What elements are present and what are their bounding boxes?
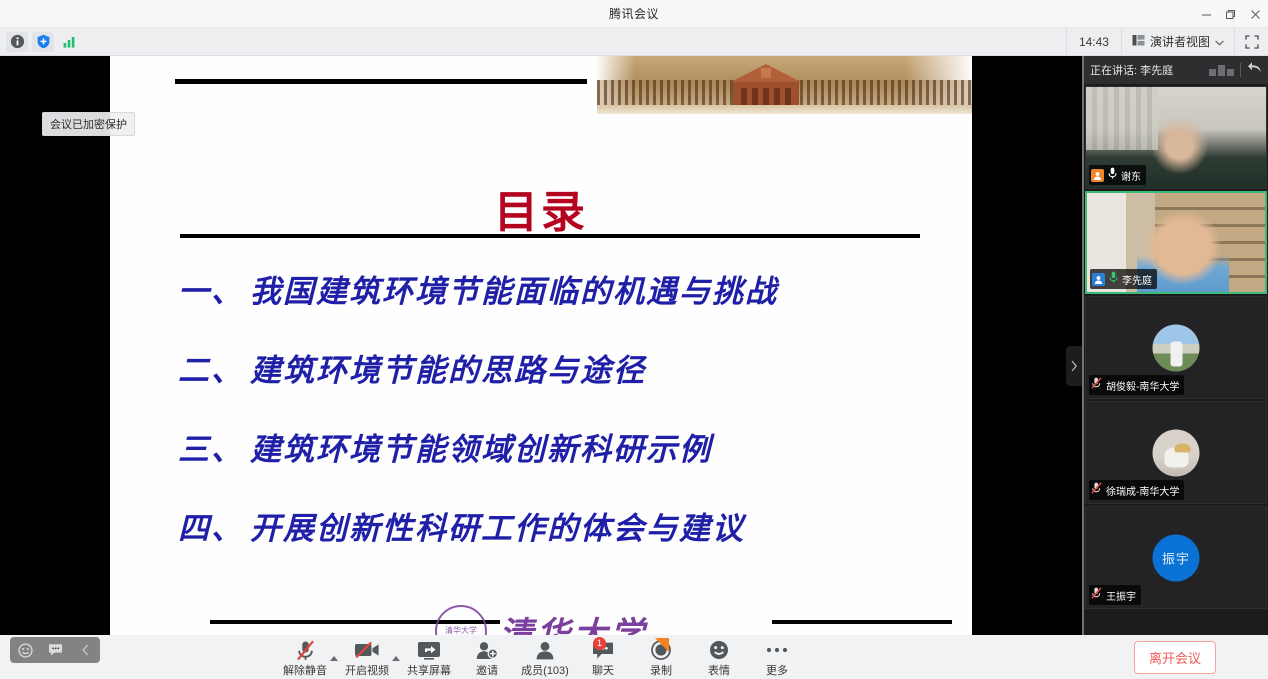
participants-video-panel: 正在讲话: 李先庭 — [1082, 56, 1268, 679]
toolbar-video-button[interactable]: 开启视频 — [338, 637, 396, 678]
chevron-down-icon — [1215, 35, 1224, 49]
window-controls — [1194, 0, 1268, 28]
meeting-clock: 14:43 — [1066, 28, 1121, 56]
toolbar-items: 解除静音 开启视频 — [276, 637, 806, 678]
toolbar-label: 开启视频 — [345, 662, 389, 678]
toolbar-emoji-button[interactable]: 表情 — [690, 637, 748, 678]
tencent-meeting-window: 腾讯会议 — [0, 0, 1268, 679]
chat-unread-badge: 1 — [593, 637, 606, 650]
active-speaker-bar: 正在讲话: 李先庭 — [1084, 56, 1268, 84]
close-icon[interactable] — [1242, 0, 1268, 28]
mic-on-icon — [1108, 166, 1117, 184]
chevron-left-icon[interactable] — [74, 640, 96, 660]
person-orange-icon — [1091, 169, 1104, 182]
toc-item-number: 三、 — [178, 432, 244, 468]
shared-screen-stage[interactable]: 会议已加密保护 目录 — [0, 56, 1082, 679]
emoji-icon[interactable] — [14, 640, 36, 660]
toolbar-share-screen-button[interactable]: 共享屏幕 — [400, 637, 458, 678]
toolbar-label: 录制 — [650, 662, 672, 678]
avatar — [1153, 429, 1200, 476]
video-tiles-list[interactable]: 谢东 李先庭 — [1084, 84, 1268, 655]
view-mode-label: 演讲者视图 — [1150, 33, 1210, 50]
person-blue-icon — [1092, 273, 1105, 286]
slide-title: 目录 — [110, 176, 972, 240]
slide-rule-middle — [180, 234, 920, 238]
toc-item-text: 我国建筑环境节能面临的机遇与挑战 — [250, 274, 778, 310]
toolbar-label: 解除静音 — [283, 662, 327, 678]
toolbar-label: 邀请 — [476, 662, 498, 678]
mic-muted-icon — [1091, 481, 1102, 499]
participant-name: 胡俊毅-南华大学 — [1106, 378, 1179, 393]
toolbar-mute-button[interactable]: 解除静音 — [276, 637, 334, 678]
security-tooltip: 会议已加密保护 — [42, 112, 135, 136]
video-off-icon — [354, 640, 380, 661]
toc-item-text: 开展创新性科研工作的体会与建议 — [250, 511, 745, 547]
toolbar-label: 成员(103) — [521, 662, 569, 678]
toolbar-more-button[interactable]: 更多 — [748, 637, 806, 678]
slide-rule-top — [175, 79, 587, 84]
presentation-slide: 目录 一、我国建筑环境节能面临的机遇与挑战 二、建筑环境节能的思路与途径 三、建… — [110, 56, 972, 679]
tile-name-bar: 胡俊毅-南华大学 — [1089, 375, 1184, 395]
toc-item: 三、建筑环境节能领域创新科研示例 — [178, 424, 958, 469]
restore-icon[interactable] — [1218, 0, 1242, 28]
mic-muted-icon — [1091, 376, 1102, 394]
meeting-toolbar: 解除静音 开启视频 — [0, 635, 1082, 679]
avatar: 振宇 — [1153, 534, 1200, 581]
info-icon[interactable] — [6, 32, 28, 52]
chevron-right-icon[interactable] — [1066, 346, 1082, 386]
tile-name-bar: 徐瑞成-南华大学 — [1089, 480, 1184, 500]
window-title: 腾讯会议 — [609, 5, 659, 22]
active-speaker-label: 正在讲话: 李先庭 — [1090, 62, 1173, 78]
toc-item-number: 四、 — [178, 511, 244, 547]
chat-bubble-icon[interactable] — [44, 640, 66, 660]
slide-table-of-contents: 一、我国建筑环境节能面临的机遇与挑战 二、建筑环境节能的思路与途径 三、建筑环境… — [178, 266, 958, 582]
minimize-icon[interactable] — [1194, 0, 1218, 28]
participant-name: 徐瑞成-南华大学 — [1106, 483, 1179, 498]
mic-muted-icon — [296, 640, 315, 661]
fullscreen-icon[interactable] — [1234, 28, 1268, 56]
leave-meeting-button[interactable]: 离开会议 — [1134, 641, 1216, 674]
tile-name-bar: 谢东 — [1089, 165, 1146, 185]
toolbar-invite-button[interactable]: 邀请 — [458, 637, 516, 678]
stage-left-controls — [10, 637, 100, 663]
toolbar-record-button[interactable]: 录制 — [632, 637, 690, 678]
banner-ground — [597, 105, 972, 114]
toolbar-label: 共享屏幕 — [407, 662, 451, 678]
toolbar-chat-button[interactable]: 1 聊天 — [574, 637, 632, 678]
avatar — [1153, 324, 1200, 371]
record-new-ribbon-icon — [655, 638, 669, 652]
emoji-icon — [709, 640, 729, 661]
chat-icon: 1 — [592, 640, 614, 661]
share-screen-icon — [417, 640, 441, 661]
network-signal-icon[interactable] — [58, 32, 80, 52]
slide-header-image — [597, 56, 972, 114]
toc-item-number: 二、 — [178, 353, 244, 389]
toolbar-participants-button[interactable]: 成员(103) — [516, 637, 574, 678]
more-dots-icon — [766, 640, 788, 661]
toc-item-text: 建筑环境节能的思路与途径 — [250, 353, 646, 389]
return-arrow-icon[interactable] — [1247, 61, 1262, 79]
video-tile[interactable]: 徐瑞成-南华大学 — [1085, 401, 1267, 504]
shield-lock-icon[interactable] — [32, 32, 54, 52]
toc-item-text: 建筑环境节能领域创新科研示例 — [250, 432, 712, 468]
toolbar-label: 聊天 — [592, 662, 614, 678]
video-tile[interactable]: 李先庭 — [1085, 191, 1267, 294]
toc-item: 一、我国建筑环境节能面临的机遇与挑战 — [178, 266, 958, 311]
leave-meeting-area: 离开会议 — [1082, 635, 1268, 679]
toolbar-label: 表情 — [708, 662, 730, 678]
view-mode-selector[interactable]: 演讲者视图 — [1121, 28, 1234, 56]
title-bar: 腾讯会议 — [0, 0, 1268, 28]
video-tile[interactable]: 振宇 王振宇 — [1085, 506, 1267, 609]
tile-name-bar: 王振宇 — [1089, 585, 1141, 605]
invite-person-icon — [476, 640, 498, 661]
participant-name: 王振宇 — [1106, 588, 1136, 603]
participant-name: 李先庭 — [1122, 272, 1152, 287]
participant-name: 谢东 — [1121, 168, 1141, 183]
sub-toolbar-left — [0, 32, 80, 52]
sub-toolbar-right: 14:43 演讲者视图 — [1066, 28, 1268, 56]
slide-rule-bottom-right — [772, 620, 952, 624]
mic-muted-icon — [1091, 586, 1102, 604]
layout-icon — [1132, 34, 1145, 50]
participants-icon — [535, 640, 555, 661]
toolbar-label: 更多 — [766, 662, 788, 678]
toc-item-number: 一、 — [178, 274, 244, 310]
mic-active-icon — [1109, 270, 1118, 288]
tile-name-bar: 李先庭 — [1090, 269, 1157, 289]
meeting-sub-toolbar: 14:43 演讲者视图 — [0, 28, 1268, 56]
toc-item: 四、开展创新性科研工作的体会与建议 — [178, 503, 958, 548]
record-icon — [651, 640, 671, 661]
video-tile[interactable]: 胡俊毅-南华大学 — [1085, 296, 1267, 399]
active-speaker-icons — [1209, 61, 1262, 79]
divider — [1240, 63, 1241, 77]
audio-wave-icon — [1209, 65, 1234, 76]
video-tile[interactable]: 谢东 — [1085, 86, 1267, 189]
toc-item: 二、建筑环境节能的思路与途径 — [178, 345, 958, 390]
